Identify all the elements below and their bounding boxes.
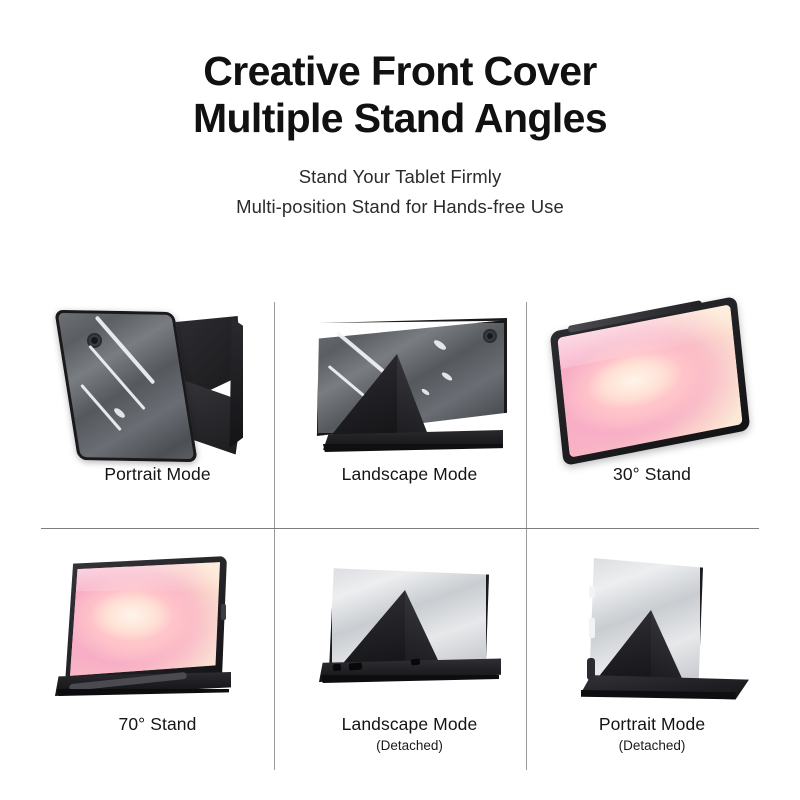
grid-cell-portrait-mode-detached: Portrait Mode (Detached) bbox=[545, 546, 759, 772]
cell-label: Portrait Mode bbox=[599, 714, 705, 734]
subtitle-line-2: Multi-position Stand for Hands-free Use bbox=[0, 192, 800, 222]
title-line-2: Multiple Stand Angles bbox=[0, 95, 800, 142]
button-cutout bbox=[589, 586, 595, 598]
cell-caption: Portrait Mode (Detached) bbox=[545, 714, 759, 753]
tablet-top-rim bbox=[315, 318, 507, 323]
portrait-mode-illustration bbox=[41, 302, 274, 470]
grid-cell-30-degree-stand: 30° Stand bbox=[545, 302, 759, 528]
cell-caption: 70° Stand bbox=[41, 714, 274, 735]
port-cutout bbox=[333, 664, 342, 672]
cell-caption: Portrait Mode bbox=[41, 464, 274, 485]
grid-divider-horizontal bbox=[41, 528, 759, 529]
page-title: Creative Front Cover Multiple Stand Angl… bbox=[0, 48, 800, 142]
cell-caption: Landscape Mode (Detached) bbox=[293, 714, 526, 753]
stylus-holder-slot bbox=[587, 658, 595, 680]
port-cutout bbox=[349, 662, 363, 670]
cell-caption: 30° Stand bbox=[545, 464, 759, 485]
title-line-1: Creative Front Cover bbox=[0, 48, 800, 95]
subtitle-line-1: Stand Your Tablet Firmly bbox=[0, 162, 800, 192]
grid-cell-landscape-mode: Landscape Mode bbox=[293, 302, 526, 528]
cell-label: 30° Stand bbox=[613, 464, 691, 484]
cell-label: 70° Stand bbox=[119, 714, 197, 734]
page-subtitle: Stand Your Tablet Firmly Multi-position … bbox=[0, 162, 800, 222]
page-header: Creative Front Cover Multiple Stand Angl… bbox=[0, 0, 800, 222]
grid-cell-landscape-mode-detached: Landscape Mode (Detached) bbox=[293, 546, 526, 772]
case-base-shadow bbox=[321, 675, 499, 683]
stand-30-degree-illustration bbox=[545, 302, 759, 470]
camera-lens-icon bbox=[487, 333, 493, 339]
cell-label: Landscape Mode bbox=[342, 464, 478, 484]
cell-sublabel: (Detached) bbox=[293, 738, 526, 753]
button-cutout bbox=[589, 618, 595, 638]
cell-caption: Landscape Mode bbox=[293, 464, 526, 485]
stand-70-degree-illustration bbox=[41, 546, 274, 714]
landscape-mode-illustration bbox=[293, 302, 526, 470]
feature-grid: Portrait Mode bbox=[41, 302, 759, 770]
grid-divider-vertical-left bbox=[274, 302, 275, 770]
case-bottom-shadow bbox=[57, 689, 229, 696]
grid-divider-vertical-right bbox=[526, 302, 527, 770]
side-button bbox=[221, 604, 226, 620]
grid-cell-70-degree-stand: 70° Stand bbox=[41, 546, 274, 772]
cell-label: Landscape Mode bbox=[342, 714, 478, 734]
camera-lens-icon bbox=[91, 337, 98, 344]
product-feature-page: Creative Front Cover Multiple Stand Angl… bbox=[0, 0, 800, 800]
stand-base-edge bbox=[323, 444, 503, 452]
landscape-detached-illustration bbox=[293, 546, 526, 714]
portrait-detached-illustration bbox=[545, 546, 759, 714]
port-cutout bbox=[411, 659, 420, 666]
cell-label: Portrait Mode bbox=[104, 464, 210, 484]
grid-cell-portrait-mode: Portrait Mode bbox=[41, 302, 274, 528]
tablet-screen-wallpaper bbox=[70, 561, 220, 677]
cell-sublabel: (Detached) bbox=[545, 738, 759, 753]
